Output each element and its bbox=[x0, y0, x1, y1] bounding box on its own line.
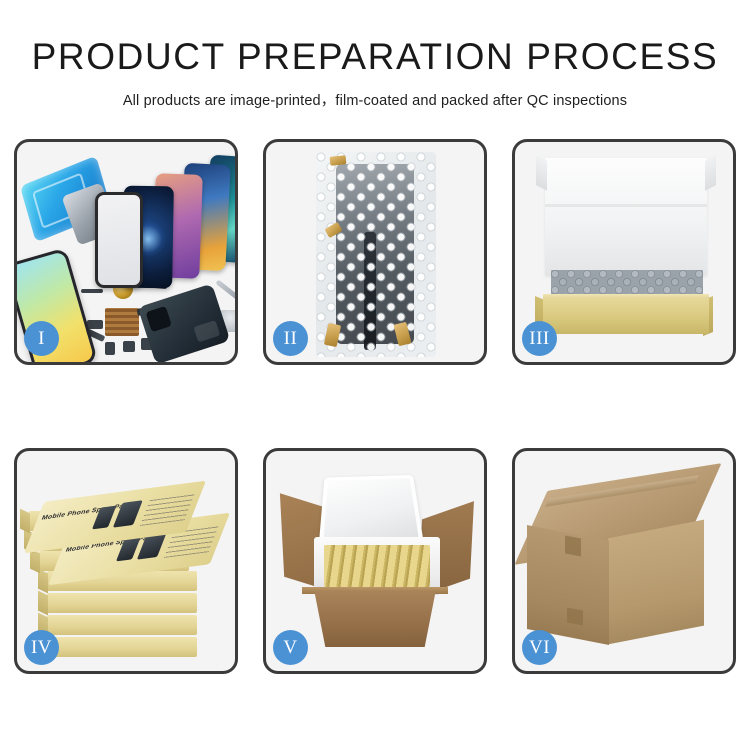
foam-lid-graphic bbox=[319, 475, 424, 545]
tape-piece-icon bbox=[330, 155, 347, 166]
page-subtitle: All products are image-printed，film-coat… bbox=[0, 89, 750, 110]
box-text-lines bbox=[140, 492, 196, 526]
carton-tape-icon bbox=[565, 535, 581, 556]
small-part-icon bbox=[105, 342, 115, 355]
small-part-icon bbox=[81, 289, 103, 293]
small-part-icon bbox=[87, 320, 103, 329]
tweezers-icon bbox=[215, 279, 235, 305]
carton-tape-icon bbox=[567, 607, 583, 625]
phone-back-housing-graphic bbox=[138, 283, 231, 362]
header: PRODUCT PREPARATION PROCESS All products… bbox=[0, 38, 750, 110]
process-step-grid: I II bbox=[14, 139, 736, 674]
process-step-card-3[interactable]: III bbox=[512, 139, 736, 365]
stacked-box-item bbox=[47, 637, 197, 657]
process-step-card-6[interactable]: VI bbox=[512, 448, 736, 674]
step-badge-3: III bbox=[522, 321, 557, 356]
carton-side-face bbox=[608, 520, 704, 645]
step-badge-4: IV bbox=[24, 630, 59, 665]
step-badge-5: V bbox=[273, 630, 308, 665]
process-step-card-1[interactable]: I bbox=[14, 139, 238, 365]
small-part-icon bbox=[123, 341, 135, 352]
box-lid-fold-line bbox=[545, 204, 707, 207]
box-lid-graphic bbox=[545, 158, 707, 276]
stacked-box-item bbox=[47, 593, 197, 613]
stacked-box-item bbox=[47, 615, 197, 635]
step-badge-2: II bbox=[273, 321, 308, 356]
carton-front-face bbox=[306, 591, 444, 647]
process-step-card-4[interactable]: Mobile Phone Spare Parts Mobile Phone Sp… bbox=[14, 448, 238, 674]
chip-component-icon bbox=[105, 308, 139, 336]
box-front-face bbox=[543, 298, 709, 334]
step-badge-6: VI bbox=[522, 630, 557, 665]
page-title: PRODUCT PREPARATION PROCESS bbox=[0, 38, 750, 77]
glass-panel-graphic bbox=[95, 192, 143, 288]
process-step-card-5[interactable]: V bbox=[263, 448, 487, 674]
step-badge-1: I bbox=[24, 321, 59, 356]
process-step-card-2[interactable]: II bbox=[263, 139, 487, 365]
packed-boxes-graphic bbox=[324, 545, 430, 587]
product-preparation-infographic: PRODUCT PREPARATION PROCESS All products… bbox=[0, 0, 750, 750]
